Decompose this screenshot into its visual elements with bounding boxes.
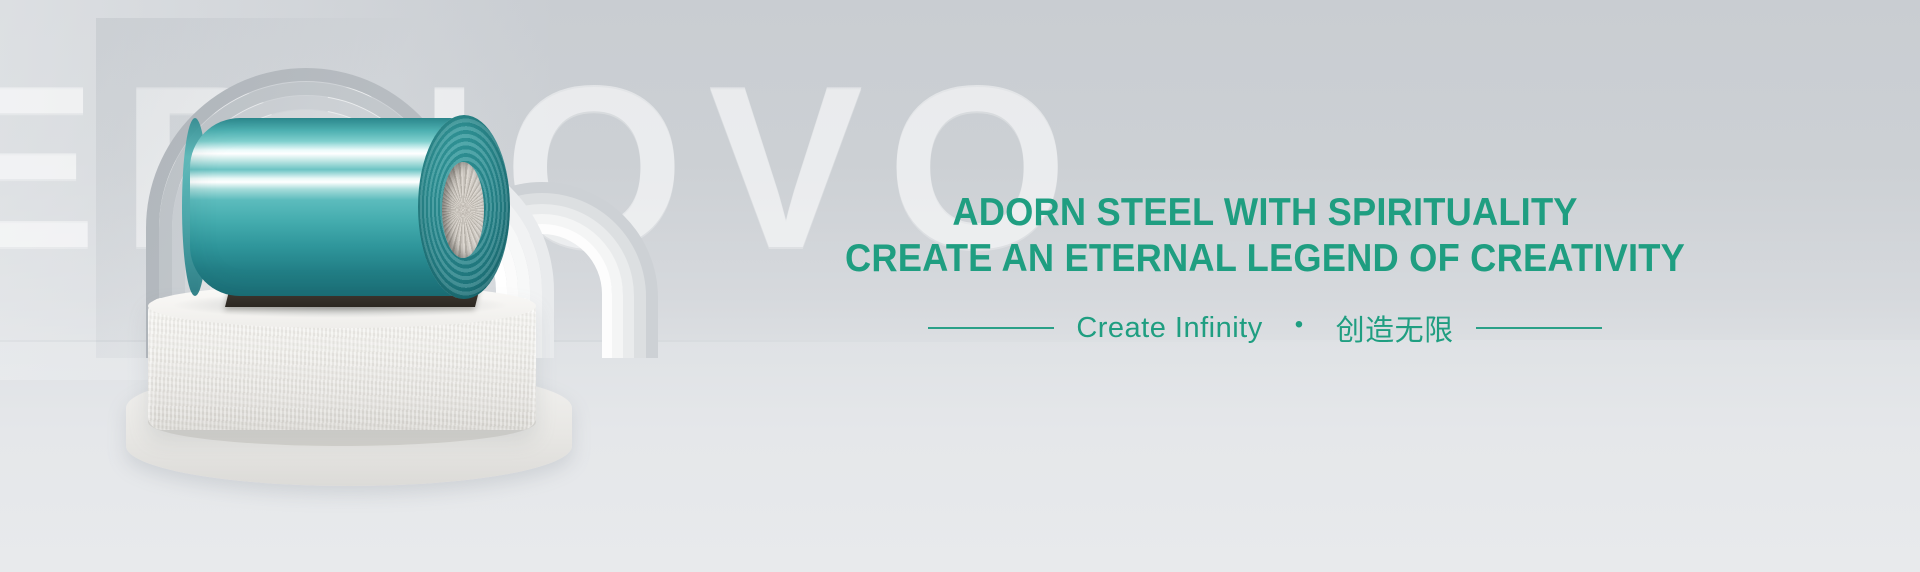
coil-core-hole xyxy=(442,162,484,258)
banner-copy: ADORN STEEL WITH SPIRITUALITY CREATE AN … xyxy=(800,190,1730,349)
steel-coil-product xyxy=(190,118,510,296)
headline-line-1: ADORN STEEL WITH SPIRITUALITY xyxy=(833,190,1698,236)
rule-left xyxy=(928,327,1054,329)
rule-right xyxy=(1476,327,1602,329)
subtitle-chinese: 创造无限 xyxy=(1336,307,1454,349)
headline-line-2: CREATE AN ETERNAL LEGEND OF CREATIVITY xyxy=(833,236,1698,282)
hero-banner: ERNOVO ADORN STEEL WITH SPIRITUALITY CR xyxy=(0,0,1920,572)
subtitle-separator-dot: • xyxy=(1285,311,1314,339)
subtitle-row: Create Infinity • 创造无限 xyxy=(800,307,1730,349)
subtitle-english: Create Infinity xyxy=(1076,312,1262,345)
